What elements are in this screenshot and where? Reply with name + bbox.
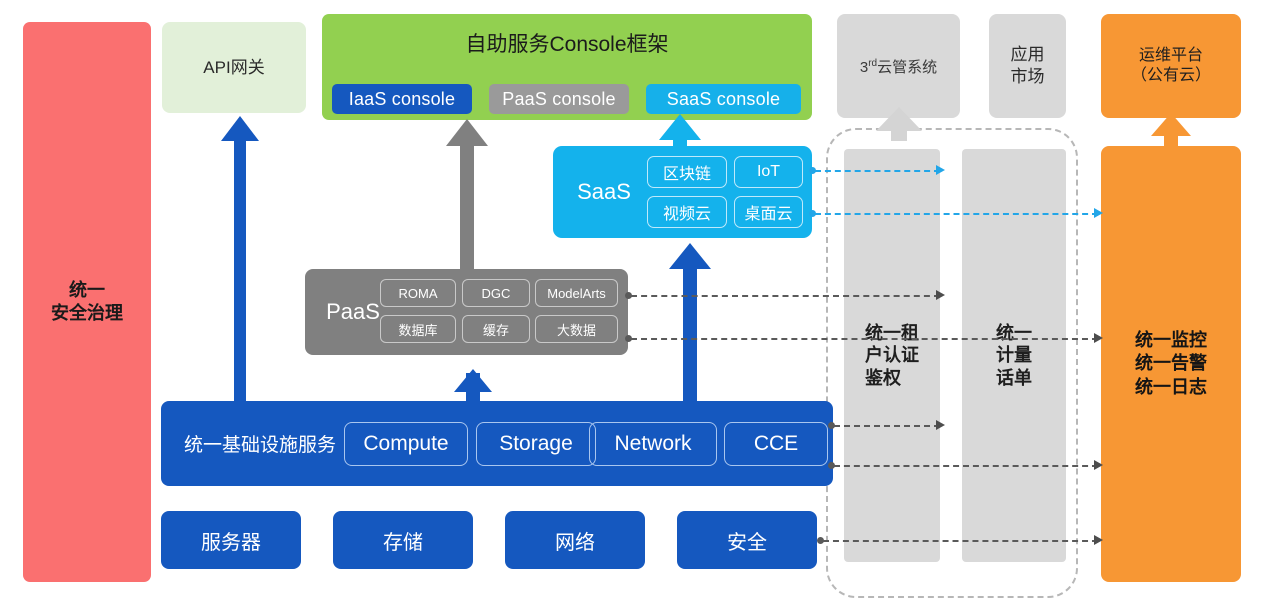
bottom-box-storage: 存储 [333, 511, 473, 569]
paas-chip-bigdata[interactable]: 大数据 [535, 315, 618, 343]
console-framework-title: 自助服务Console框架 [322, 14, 812, 72]
arrowhead-infra-to-ops [1094, 460, 1103, 470]
api-gateway-box: API网关 [162, 22, 306, 113]
saas-chip-video-cloud[interactable]: 视频云 [647, 196, 727, 228]
dashed-line-saas-to-auth [815, 170, 940, 172]
paas-chip-cache[interactable]: 缓存 [462, 315, 530, 343]
bottom-box-server: 服务器 [161, 511, 301, 569]
paas-chip-dgc[interactable]: DGC [462, 279, 530, 307]
iaas-console-chip[interactable]: IaaS console [332, 84, 472, 114]
bottom-box-security-label: 安全 [727, 526, 767, 555]
ops-platform-public-cloud-box: 运维平台 （公有云） [1101, 14, 1241, 118]
infra-label: 统一基础设施服务 [175, 401, 345, 486]
third-party-cloud-management-box: 3rd云管系统 [837, 14, 960, 118]
arrowhead-bottom-to-ops [1094, 535, 1103, 545]
unified-tenant-auth-column: 统一租 户认证 鉴权 [844, 149, 940, 562]
arrowhead-paas-to-auth [936, 290, 945, 300]
arrowhead-saas-to-ops [1094, 208, 1103, 218]
arrow-infra-to-paas [454, 369, 492, 402]
arrow-infra-to-saas [669, 243, 711, 402]
dashed-line-infra-to-auth [834, 425, 940, 427]
bottom-box-security: 安全 [677, 511, 817, 569]
paas-chip-roma[interactable]: ROMA [380, 279, 456, 307]
self-service-console-framework: 自助服务Console框架 IaaS console PaaS console … [322, 14, 812, 120]
infra-chip-network[interactable]: Network [589, 422, 717, 466]
arrowhead-saas-to-auth [936, 165, 945, 175]
unified-monitoring-panel: 统一监控 统一告警 统一日志 [1101, 146, 1241, 582]
arrow-ops-panel-to-ops-top [1151, 113, 1191, 147]
ops-top-label: 运维平台 （公有云） [1131, 46, 1211, 87]
unified-security-governance-panel: 统一 安全治理 [23, 22, 151, 582]
bottom-box-network-label: 网络 [555, 526, 595, 555]
saas-console-chip[interactable]: SaaS console [646, 84, 801, 114]
arrowhead-infra-to-auth [936, 420, 945, 430]
arrowhead-paas-to-ops [1094, 333, 1103, 343]
diagram-canvas: 统一 安全治理 API网关 自助服务Console框架 IaaS console… [0, 0, 1265, 605]
arrow-paas-to-paas-console [446, 119, 488, 269]
bottom-box-network: 网络 [505, 511, 645, 569]
app-market-label: 应用 市场 [1011, 44, 1045, 88]
api-gateway-label: API网关 [203, 57, 264, 79]
bottom-box-server-label: 服务器 [201, 526, 261, 555]
paas-chip-modelarts[interactable]: ModelArts [535, 279, 618, 307]
security-panel-label: 统一 安全治理 [51, 279, 123, 325]
infra-chip-cce[interactable]: CCE [724, 422, 828, 466]
dashed-line-paas-to-auth [631, 295, 940, 297]
paas-console-chip[interactable]: PaaS console [489, 84, 629, 114]
dashed-line-saas-to-ops [815, 213, 1098, 215]
infra-chip-compute[interactable]: Compute [344, 422, 468, 466]
app-market-box: 应用 市场 [989, 14, 1066, 118]
saas-layer-box: SaaS 区块链 IoT 视频云 桌面云 [553, 146, 812, 238]
ops-panel-label: 统一监控 统一告警 统一日志 [1135, 329, 1207, 398]
paas-layer-label: PaaS [317, 269, 389, 355]
saas-chip-iot[interactable]: IoT [734, 156, 803, 188]
unified-metering-billing-column: 统一 计量 话单 [962, 149, 1066, 562]
bottom-box-storage-label: 存储 [383, 526, 423, 555]
billing-column-label: 统一 计量 话单 [996, 322, 1032, 390]
auth-column-label: 统一租 户认证 鉴权 [865, 322, 919, 390]
dashed-line-paas-to-ops [631, 338, 1098, 340]
unified-infrastructure-service-box: 统一基础设施服务 Compute Storage Network CCE [161, 401, 833, 486]
dashed-line-infra-to-ops [834, 465, 1098, 467]
third-cloud-label: 3rd云管系统 [860, 56, 937, 77]
saas-chip-desktop-cloud[interactable]: 桌面云 [734, 196, 803, 228]
saas-layer-label: SaaS [565, 146, 643, 238]
dashed-line-bottom-to-ops [823, 540, 1098, 542]
infra-chip-storage[interactable]: Storage [476, 422, 596, 466]
arrow-infra-to-api-gateway [221, 116, 259, 401]
saas-chip-blockchain[interactable]: 区块链 [647, 156, 727, 188]
paas-chip-database[interactable]: 数据库 [380, 315, 456, 343]
third-cloud-superscript: rd [868, 58, 877, 69]
paas-layer-box: PaaS ROMA DGC ModelArts 数据库 缓存 大数据 [305, 269, 628, 355]
